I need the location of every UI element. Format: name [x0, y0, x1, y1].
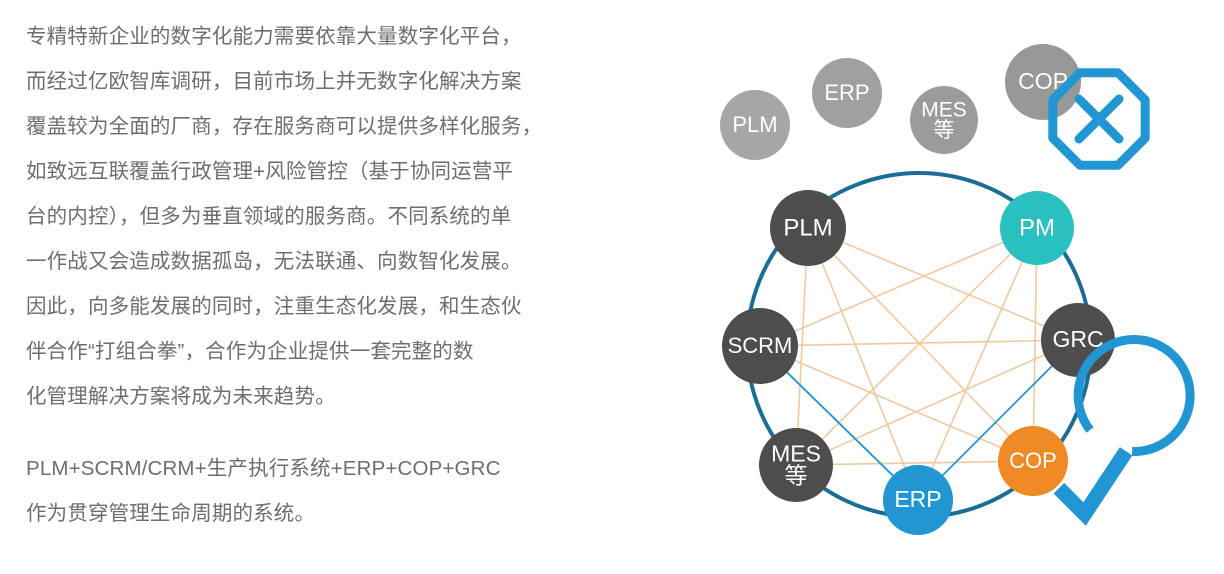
node-label: GRC: [1052, 326, 1103, 352]
scattered-node-erp: ERP: [812, 58, 882, 128]
ring-node-cop: COP: [998, 426, 1068, 496]
systems-ecosystem-diagram: PLMERPMES等COP PLMPMGRCCOPERPMES等SCRM: [700, 0, 1224, 574]
node-label: COP: [1009, 448, 1057, 473]
ring-node-scrm: SCRM: [722, 308, 798, 384]
ring-node-mes: MES等: [759, 428, 833, 502]
ring-node-erp: ERP: [883, 465, 953, 535]
check-tick: [1059, 451, 1126, 514]
body-paragraph: 专精特新企业的数字化能力需要依靠大量数字化平台， 而经过亿欧智库调研，目前市场上…: [26, 14, 616, 419]
node-label: ERP: [824, 80, 869, 105]
summary-paragraph: PLM+SCRM/CRM+生产执行系统+ERP+COP+GRC 作为贯穿管理生命…: [26, 446, 616, 536]
node-label: PLM: [783, 214, 832, 241]
node-sublabel: 等: [934, 119, 955, 142]
node-sublabel: 等: [785, 463, 808, 489]
check-circle-arc: [1078, 340, 1190, 452]
ring-node-pm: PM: [1000, 191, 1074, 265]
text-column: 专精特新企业的数字化能力需要依靠大量数字化平台， 而经过亿欧智库调研，目前市场上…: [26, 14, 616, 536]
ring-nodes-group: PLMPMGRCCOPERPMES等SCRM: [722, 190, 1115, 535]
ring-node-grc: GRC: [1041, 303, 1115, 377]
node-label: PM: [1019, 214, 1055, 241]
scattered-node-plm: PLM: [720, 90, 790, 160]
octagon-x-icon: [1053, 73, 1145, 165]
node-label: PLM: [732, 112, 777, 137]
scattered-node-mes: MES等: [910, 86, 978, 154]
slide-canvas: 专精特新企业的数字化能力需要依靠大量数字化平台， 而经过亿欧智库调研，目前市场上…: [0, 0, 1224, 574]
connection-line: [796, 228, 1037, 465]
node-label: ERP: [894, 486, 941, 512]
diagram-svg: PLMERPMES等COP PLMPMGRCCOPERPMES等SCRM: [700, 0, 1224, 574]
node-label: SCRM: [728, 333, 793, 358]
scattered-nodes-group: PLMERPMES等COP: [720, 44, 1081, 160]
ring-node-plm: PLM: [770, 190, 846, 266]
